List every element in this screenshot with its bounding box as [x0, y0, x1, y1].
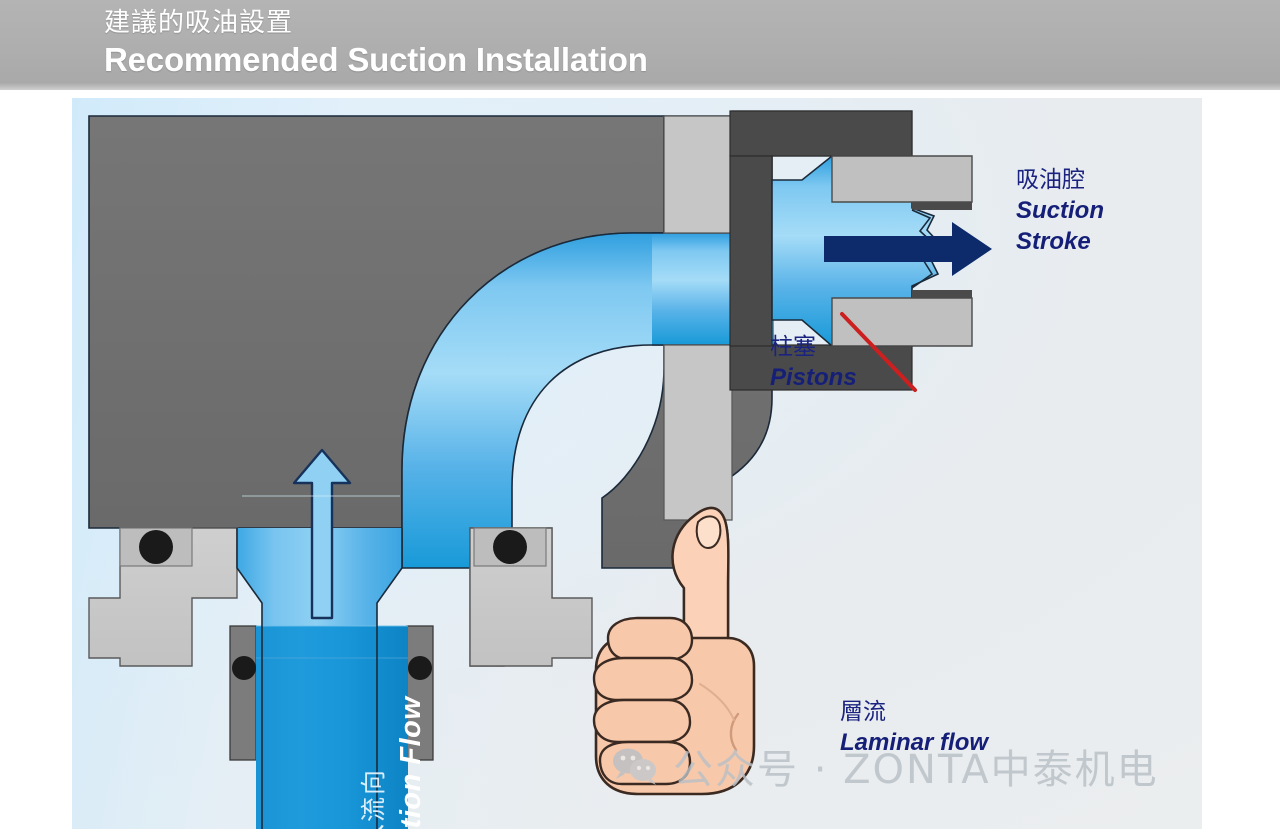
piston-upper-shoulder	[912, 202, 972, 210]
callout-suction-stroke-en-2: Stroke	[1016, 226, 1104, 257]
oring-right	[493, 530, 527, 564]
piston-upper	[832, 156, 972, 202]
slide-header: 建議的吸油設置 Recommended Suction Installation	[0, 0, 1280, 90]
port-block-lower-left	[664, 345, 732, 520]
piston-housing-top-wall	[730, 111, 912, 156]
slide-root: 建議的吸油設置 Recommended Suction Installation	[0, 0, 1280, 829]
oring-left	[139, 530, 173, 564]
flow-label-english: Suction Flow	[395, 697, 428, 829]
port-block-upper-left	[664, 116, 732, 233]
page-title-chinese: 建議的吸油設置	[104, 6, 648, 40]
callout-pistons-cn: 柱塞	[770, 333, 857, 362]
oring-pipe-right	[408, 656, 432, 680]
piston-lower-shoulder	[912, 290, 972, 298]
callout-suction-stroke-en-1: Suction	[1016, 195, 1104, 226]
callout-suction-stroke: 吸油腔 Suction Stroke	[1016, 166, 1104, 257]
header-text-block: 建議的吸油設置 Recommended Suction Installation	[104, 6, 648, 80]
suction-pipe-wall-left-upper	[230, 626, 256, 760]
callout-laminar-flow: 層流 Laminar flow	[840, 698, 988, 758]
oring-pipe-left	[232, 656, 256, 680]
callout-pistons: 柱塞 Pistons	[770, 333, 857, 393]
callout-laminar-flow-cn: 層流	[840, 698, 988, 727]
piston-housing-back-wall	[730, 156, 772, 346]
flow-label-chinese: 吸入流向	[354, 768, 390, 829]
diagram-panel: 吸入流向 Suction Flow 吸油腔 Suction Stroke 柱塞 …	[72, 98, 1202, 829]
page-title-english: Recommended Suction Installation	[104, 40, 648, 80]
callout-suction-stroke-cn: 吸油腔	[1016, 166, 1104, 195]
callout-pistons-en: Pistons	[770, 362, 857, 393]
callout-laminar-flow-en: Laminar flow	[840, 727, 988, 758]
